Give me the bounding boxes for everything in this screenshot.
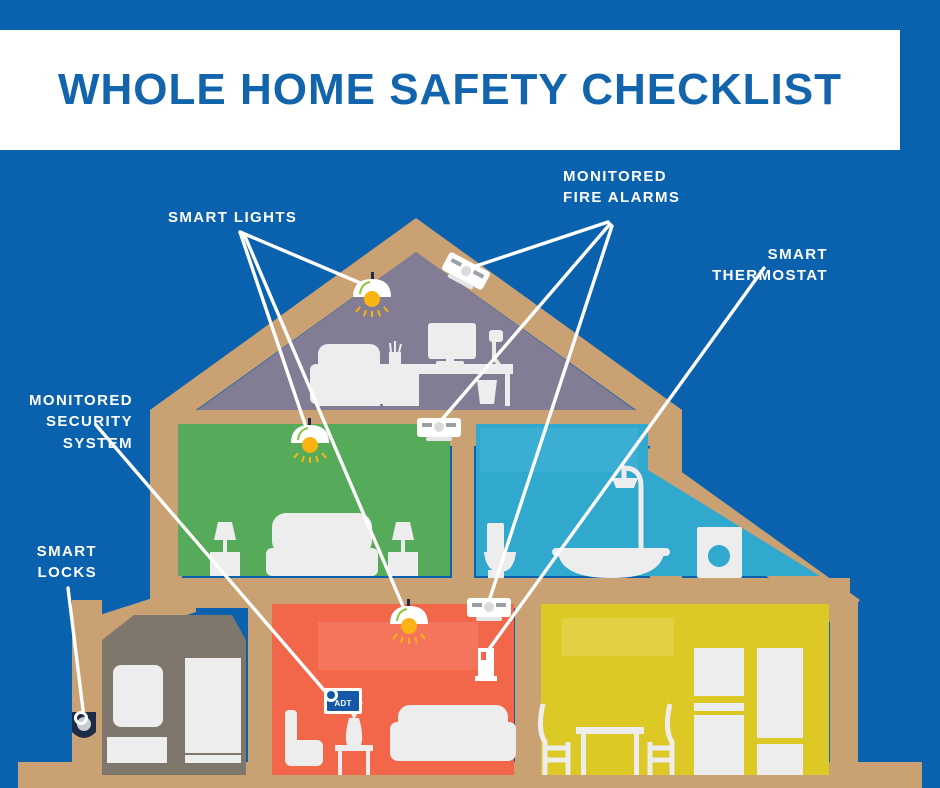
- smoke-detector-living-led: [484, 602, 494, 612]
- attic-monitor-screen: [428, 323, 476, 359]
- smoke-detector-bedroom-vent-r: [446, 423, 456, 427]
- cabinet-upper: [694, 648, 744, 696]
- dining-table-leg-r: [634, 734, 639, 775]
- cabinet-lower: [694, 715, 744, 775]
- armchair-seat: [285, 740, 323, 766]
- callout-label-fire-alarms: MONITORED FIRE ALARMS: [563, 166, 680, 209]
- smoke-detector-living-vent-r: [496, 603, 506, 607]
- callout-label-smart-locks: SMART LOCKS: [0, 541, 97, 584]
- side-table-leg-l: [338, 751, 342, 775]
- page-title: Whole Home Safety Checklist: [58, 65, 842, 115]
- pendant-bulb-bedroom: [302, 437, 318, 453]
- garage-counter-right: [185, 755, 241, 763]
- nightstand-right: [388, 552, 418, 576]
- smoke-detector-bedroom-led: [434, 422, 444, 432]
- bathtub-rim: [552, 548, 670, 556]
- vase: [346, 718, 362, 745]
- bathroom-wall-accent: [480, 428, 638, 472]
- wall-mid-divider: [452, 420, 474, 600]
- sofa-arm-r: [500, 722, 516, 752]
- smoke-detector-living-vent-l: [472, 603, 482, 607]
- dining-table-leg-l: [581, 734, 586, 775]
- title-banner: Whole Home Safety Checklist: [0, 30, 900, 150]
- sofa-arm-l: [390, 722, 406, 752]
- bed-mattress: [266, 548, 378, 576]
- refrigerator-lower: [757, 744, 803, 775]
- pendant-bulb-attic: [364, 291, 380, 307]
- attic-trash-bin: [477, 380, 497, 404]
- smart-thermostat: [475, 648, 497, 681]
- smoke-detector-bedroom-vent-l: [422, 423, 432, 427]
- thermostat-screen: [481, 652, 486, 660]
- washing-machine-door: [708, 545, 730, 567]
- lamp-left-stem: [223, 540, 227, 552]
- smoke-detector-bedroom-base: [426, 437, 452, 441]
- attic-armchair-base: [318, 398, 380, 406]
- garage-box-right: [185, 658, 241, 753]
- wall-right-lower: [830, 600, 858, 775]
- side-table-leg-r: [366, 751, 370, 775]
- attic-desk-pedestal: [383, 364, 419, 406]
- pendant-bulb-living: [401, 618, 417, 634]
- dining-table-top: [576, 727, 644, 734]
- callout-label-smart-lights: SMART LIGHTS: [168, 207, 297, 228]
- side-table-top: [335, 745, 373, 751]
- garage-counter-left: [107, 737, 167, 763]
- attic-monitor-base: [436, 361, 464, 366]
- thermostat-base: [475, 676, 497, 681]
- smart-lock: [72, 712, 96, 738]
- wall-divider-b: [515, 600, 541, 775]
- security-panel: ADT: [324, 688, 362, 714]
- callout-label-smart-thermostat: SMART THERMOSTAT: [712, 244, 828, 287]
- garage-box-left: [113, 665, 163, 727]
- sofa-seat: [390, 735, 516, 761]
- living-wall-accent: [318, 622, 478, 670]
- smoke-detector-living-base: [476, 617, 502, 621]
- lamp-right-stem: [401, 540, 405, 552]
- attic-armchair-back: [318, 344, 380, 392]
- attic-lamp-head: [489, 330, 503, 342]
- toilet-tank: [487, 523, 504, 555]
- wall-left-lower: [72, 600, 102, 775]
- callout-label-security-system: MONITORED SECURITY SYSTEM: [0, 390, 133, 454]
- kitchen-wall-accent: [562, 618, 674, 656]
- shower-head: [612, 478, 638, 488]
- attic-desk-leg: [505, 368, 510, 406]
- attic-pen-cup: [389, 352, 401, 366]
- cabinet-counter: [694, 703, 744, 711]
- refrigerator-upper: [757, 648, 803, 738]
- security-panel-label: ADT: [334, 699, 351, 708]
